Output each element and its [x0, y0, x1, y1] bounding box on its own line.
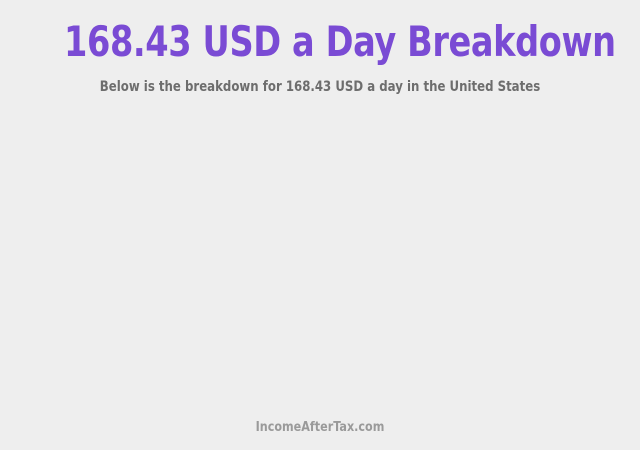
breakdown-content-area — [0, 96, 640, 420]
site-credit: IncomeAfterTax.com — [45, 420, 595, 436]
page-footer: IncomeAfterTax.com — [0, 420, 640, 450]
page-subtitle: Below is the breakdown for 168.43 USD a … — [51, 66, 589, 96]
page-root: 168.43 USD a Day Breakdown Below is the … — [0, 0, 640, 450]
page-title: 168.43 USD a Day Breakdown — [64, 18, 576, 66]
page-header: 168.43 USD a Day Breakdown Below is the … — [0, 0, 640, 96]
